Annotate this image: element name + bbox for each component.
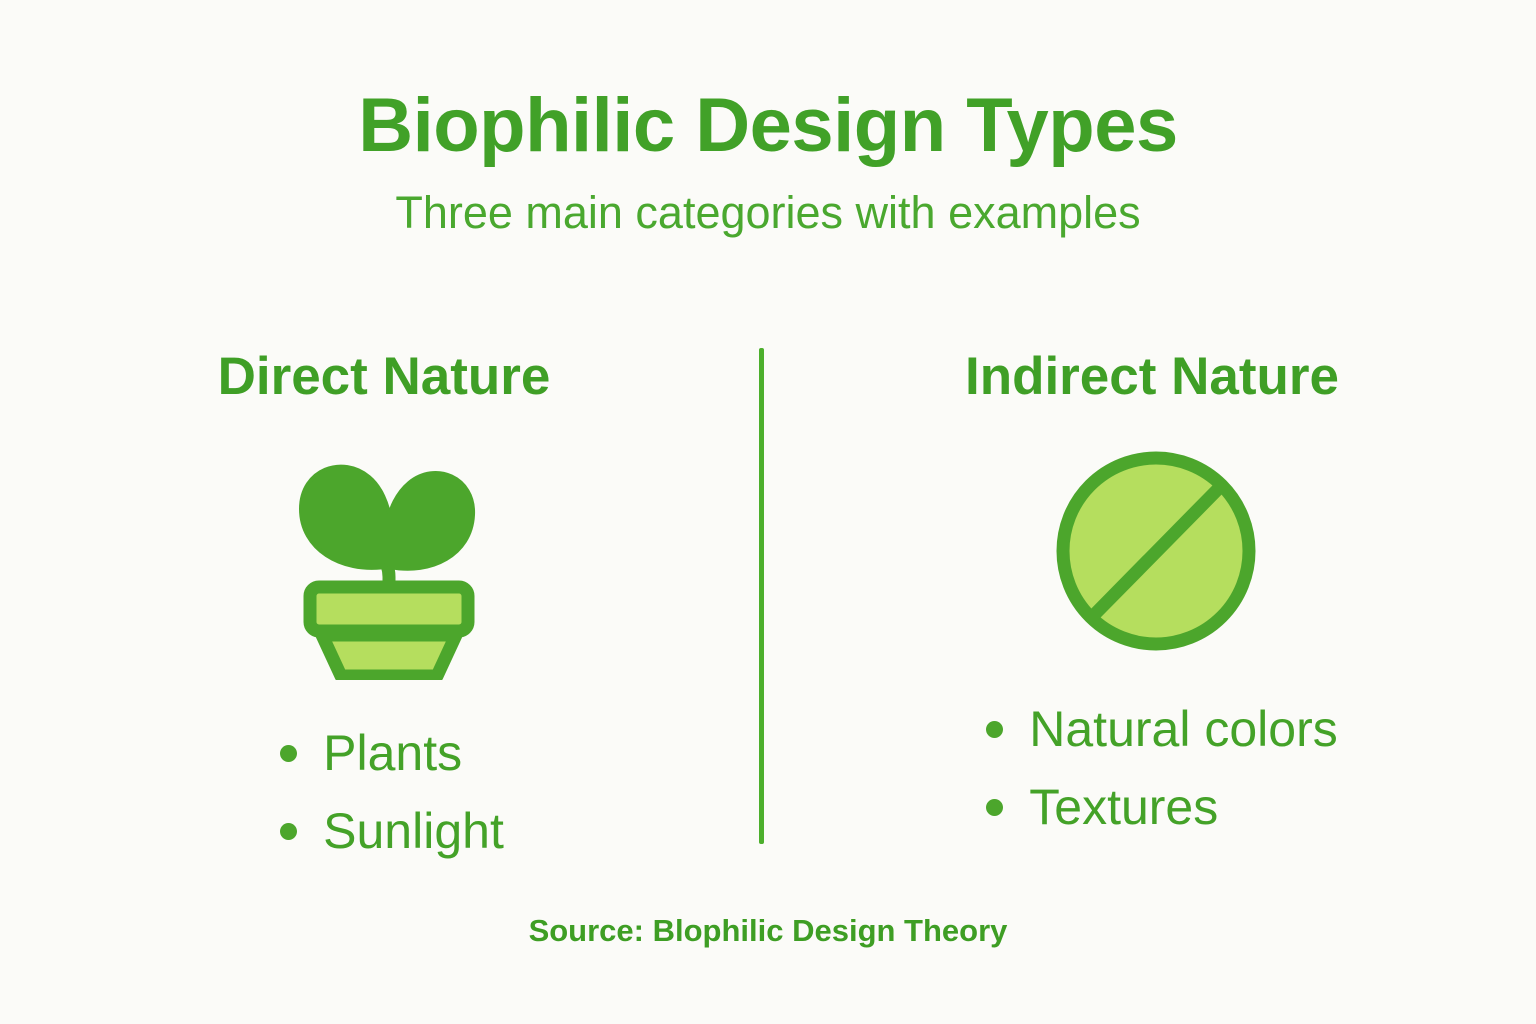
bullet-dot-icon — [986, 799, 1003, 816]
list-item: Sunlight — [280, 806, 504, 856]
bullet-label: Plants — [323, 728, 462, 778]
list-item: Textures — [986, 782, 1337, 832]
column-indirect-nature: Indirect Nature Natural colors Textures — [768, 340, 1536, 860]
bullet-label: Sunlight — [323, 806, 504, 856]
page-subtitle: Three main categories with examples — [0, 164, 1536, 235]
header: Biophilic Design Types Three main catego… — [0, 88, 1536, 235]
column-heading-indirect: Indirect Nature — [965, 340, 1339, 403]
bullet-label: Textures — [1029, 782, 1218, 832]
source-attribution: Source: Blophilic Design Theory — [529, 913, 1008, 948]
list-item: Plants — [280, 728, 504, 778]
column-heading-direct: Direct Nature — [218, 340, 551, 403]
circle-slash-icon — [1043, 445, 1261, 656]
footer: Source: Blophilic Design Theory — [0, 915, 1536, 946]
column-direct-nature: Direct Nature Plant — [0, 340, 768, 860]
bullet-dot-icon — [280, 823, 297, 840]
bullet-label: Natural colors — [1029, 704, 1337, 754]
page-title: Biophilic Design Types — [0, 88, 1536, 164]
bullet-dot-icon — [986, 721, 1003, 738]
bullet-dot-icon — [280, 745, 297, 762]
infographic-poster: Biophilic Design Types Three main catego… — [0, 0, 1536, 1024]
bullet-list-indirect: Natural colors Textures — [986, 704, 1337, 860]
bullet-list-direct: Plants Sunlight — [280, 728, 504, 884]
list-item: Natural colors — [986, 704, 1337, 754]
columns-container: Direct Nature Plant — [0, 340, 1536, 860]
potted-plant-icon — [279, 445, 489, 680]
